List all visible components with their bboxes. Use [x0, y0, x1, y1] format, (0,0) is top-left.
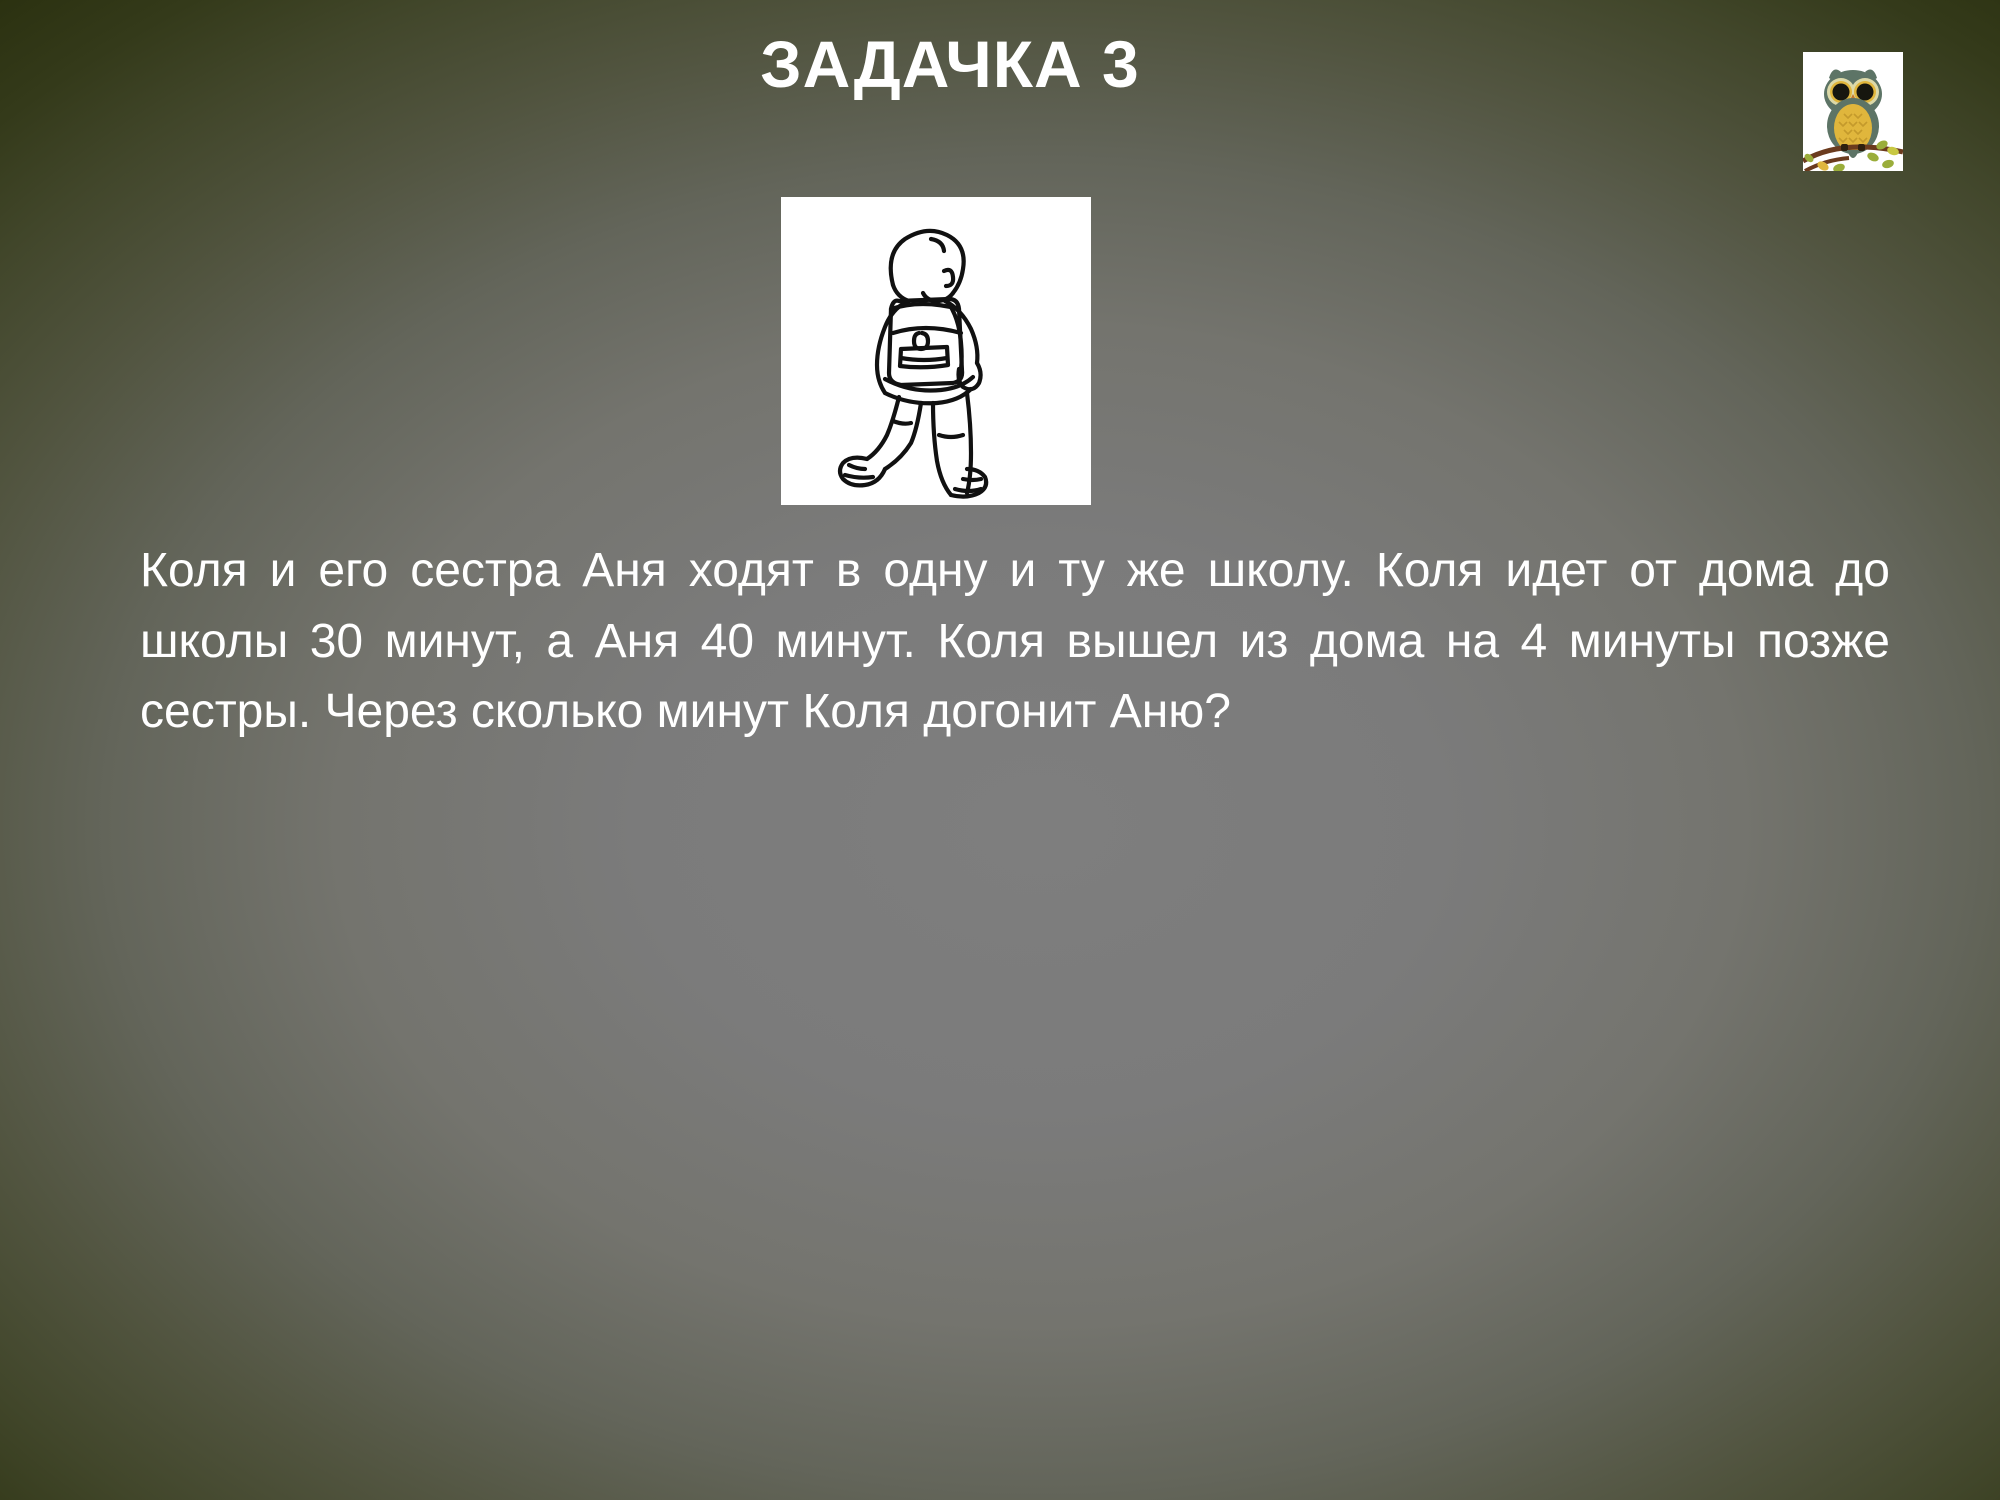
- presentation-slide: ЗАДАЧКА 3: [0, 0, 2000, 1500]
- owl-icon: [1803, 52, 1903, 171]
- problem-statement-paragraph: Коля и его сестра Аня ходят в одну и ту …: [140, 536, 1890, 748]
- walking-schoolboy-illustration: [781, 197, 1091, 505]
- problem-statement: Коля и его сестра Аня ходят в одну и ту …: [140, 536, 1890, 748]
- page-title: ЗАДАЧКА 3: [250, 30, 1650, 99]
